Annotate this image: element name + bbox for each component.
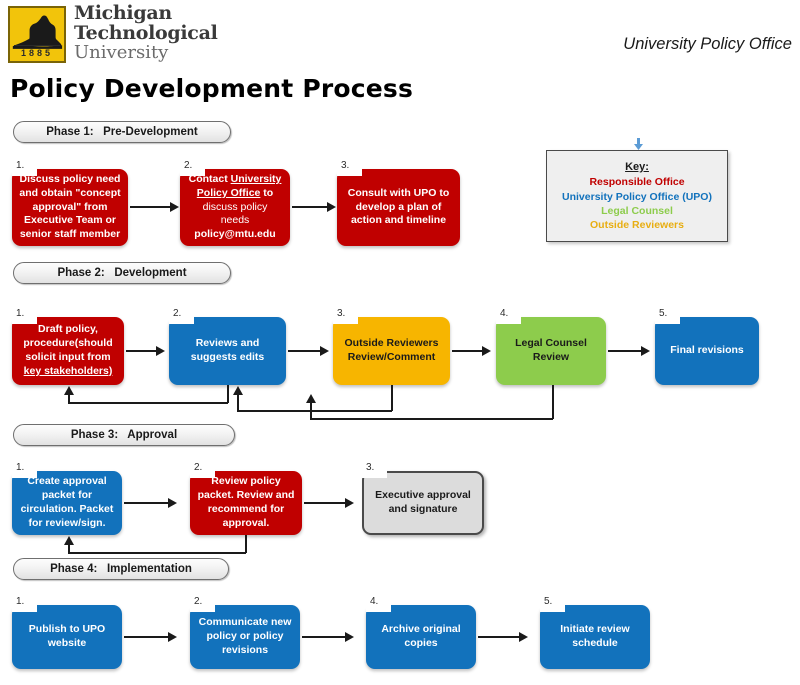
phase-2-step-2-text: Reviews and suggests edits (176, 337, 279, 365)
wordmark-line-1: Michigan (74, 4, 218, 23)
phase-2-loop-c-head (306, 394, 316, 403)
phase-1-arrow-1-2 (130, 206, 171, 208)
logo-divider (14, 45, 60, 47)
phase-1-step-2-text: Contact University Policy Office to disc… (187, 173, 283, 242)
phase-1-step-2-box: Contact University Policy Office to disc… (180, 169, 290, 246)
phase-2-step-4-number: 4. (496, 302, 521, 324)
phase-1-step-3-number: 3. (337, 154, 362, 176)
phase-1-step-3-text: Consult with UPO to develop a plan of ac… (344, 187, 453, 229)
phase-4-step-5-box: Initiate review schedule (540, 605, 650, 669)
phase-1-step-1-box: Discuss policy need and obtain "concept … (12, 169, 128, 246)
phase-4-arrow-1-2-head (168, 632, 177, 642)
phase-1-arrow-2-3-head (327, 202, 336, 212)
phase-2-arrow-3-4-head (482, 346, 491, 356)
phase-4-step-4-text: Archive original copies (373, 623, 469, 651)
phase-2-arrow-4-5 (608, 350, 642, 352)
phase-2-step-1-text: Draft policy, procedure(should solicit i… (19, 323, 117, 378)
phase-1-step-1-text: Discuss policy need and obtain "concept … (19, 173, 121, 242)
phase-2-loop-a-head (64, 386, 74, 395)
phase-4-step-1-number: 1. (12, 590, 37, 612)
phase-2-step-1-box: Draft policy, procedure(should solicit i… (12, 317, 124, 385)
mtu-wordmark: Michigan Technological University (74, 4, 218, 62)
logo-year: 1885 (10, 48, 64, 58)
phase-2-step-5-number: 5. (655, 302, 680, 324)
key-entry-upo: University Policy Office (UPO) (562, 190, 712, 204)
phase-4-step-5-text: Initiate review schedule (547, 623, 643, 651)
phase-4-arrow-2-4 (302, 636, 346, 638)
phase-4-step-1-text: Publish to UPO website (19, 623, 115, 651)
phase-2-arrow-2-3-head (320, 346, 329, 356)
phase-2-step-5-box: Final revisions (655, 317, 759, 385)
key-entry-outside-reviewers: Outside Reviewers (590, 218, 684, 232)
key-title: Key: (625, 161, 649, 173)
phase-3-loop-head (64, 536, 74, 545)
phase-2-loop-c-horizontal (310, 418, 553, 420)
policy-process-page: 1885 Michigan Technological University U… (0, 0, 800, 685)
phase-1-step-1-number: 1. (12, 154, 37, 176)
page-title: Policy Development Process (10, 74, 413, 103)
phase-4-arrow-4-5-head (519, 632, 528, 642)
phase-2-loop-b-riser (237, 393, 239, 411)
phase-2-loop-b-vertical (391, 385, 393, 411)
phase-3-arrow-1-2 (124, 502, 169, 504)
p1s2-sub: discuss policy needs (203, 201, 268, 227)
phase-2-arrow-1-2-head (156, 346, 165, 356)
page-header: 1885 Michigan Technological University U… (0, 0, 800, 62)
phase-2-arrow-3-4 (452, 350, 483, 352)
phase-4-step-2-number: 2. (190, 590, 215, 612)
phase-2-arrow-1-2 (126, 350, 157, 352)
phase-2-step-4-text: Legal Counsel Review (503, 337, 599, 365)
phase-4-step-4-box: Archive original copies (366, 605, 476, 669)
phase-4-pill: Phase 4: Implementation (13, 558, 229, 580)
phase-4-step-5-number: 5. (540, 590, 565, 612)
phase-3-arrow-2-3-head (345, 498, 354, 508)
phase-2-step-2-box: Reviews and suggests edits (169, 317, 286, 385)
mtu-logo: 1885 (8, 6, 66, 63)
wordmark-line-3: University (74, 44, 218, 62)
phase-4-arrow-4-5 (478, 636, 520, 638)
phase-3-step-1-text: Create approval packet for circulation. … (19, 475, 115, 530)
phase-2-loop-a-vertical (227, 385, 229, 403)
phase-4-step-2-box: Communicate new policy or policy revisio… (190, 605, 300, 669)
p1s2-tail: to (260, 187, 273, 199)
phase-2-pill: Phase 2: Development (13, 262, 231, 284)
phase-2-step-2-number: 2. (169, 302, 194, 324)
phase-4-arrow-2-4-head (345, 632, 354, 642)
phase-1-pill: Phase 1: Pre-Development (13, 121, 231, 143)
phase-2-step-5-text: Final revisions (662, 344, 752, 358)
phase-3-step-1-number: 1. (12, 456, 37, 478)
phase-2-step-3-box: Outside Reviewers Review/Comment (333, 317, 450, 385)
phase-3-arrow-2-3 (304, 502, 346, 504)
phase-2-loop-b-horizontal (237, 410, 392, 412)
phase-2-loop-a-horizontal (68, 402, 228, 404)
phase-3-step-2-text: Review policy packet. Review and recomme… (197, 475, 295, 530)
phase-4-step-1-box: Publish to UPO website (12, 605, 122, 669)
phase-3-step-3-box: Executive approval and signature (362, 471, 484, 535)
phase-1-arrow-2-3 (292, 206, 328, 208)
office-label: University Policy Office (623, 35, 792, 54)
phase-1-step-2-number: 2. (180, 154, 205, 176)
phase-3-step-3-text: Executive approval and signature (371, 489, 475, 517)
phase-3-loop-vertical (245, 535, 247, 553)
phase-1-arrow-1-2-head (170, 202, 179, 212)
phase-1-step-3-box: Consult with UPO to develop a plan of ac… (337, 169, 460, 246)
phase-2-loop-c-vertical (552, 385, 554, 419)
key-legend: Key: Responsible Office University Polic… (546, 150, 728, 242)
phase-2-step-3-number: 3. (333, 302, 358, 324)
phase-3-step-2-number: 2. (190, 456, 215, 478)
phase-2-arrow-2-3 (288, 350, 321, 352)
phase-4-arrow-1-2 (124, 636, 169, 638)
wordmark-line-2: Technological (74, 24, 218, 43)
phase-2-loop-c-riser (310, 401, 312, 419)
p2s1-link: key stakeholders) (24, 365, 113, 377)
phase-4-step-4-number: 4. (366, 590, 391, 612)
phase-3-pill: Phase 3: Approval (13, 424, 235, 446)
phase-4-step-2-text: Communicate new policy or policy revisio… (197, 616, 293, 658)
phase-2-arrow-4-5-head (641, 346, 650, 356)
key-entry-responsible-office: Responsible Office (589, 175, 684, 189)
phase-3-step-2-box: Review policy packet. Review and recomme… (190, 471, 302, 535)
p1s2-email: policy@mtu.edu (194, 228, 275, 240)
phase-3-step-3-number: 3. (362, 456, 387, 478)
phase-2-step-3-text: Outside Reviewers Review/Comment (340, 337, 443, 365)
phase-2-step-1-number: 1. (12, 302, 37, 324)
phase-2-loop-b-head (233, 386, 243, 395)
p2s1-lead: Draft policy, procedure(should solicit i… (23, 323, 112, 363)
phase-3-loop-horizontal (68, 552, 246, 554)
phase-3-arrow-1-2-head (168, 498, 177, 508)
phase-3-step-1-box: Create approval packet for circulation. … (12, 471, 122, 535)
phase-2-step-4-box: Legal Counsel Review (496, 317, 606, 385)
key-entry-legal-counsel: Legal Counsel (601, 204, 673, 218)
